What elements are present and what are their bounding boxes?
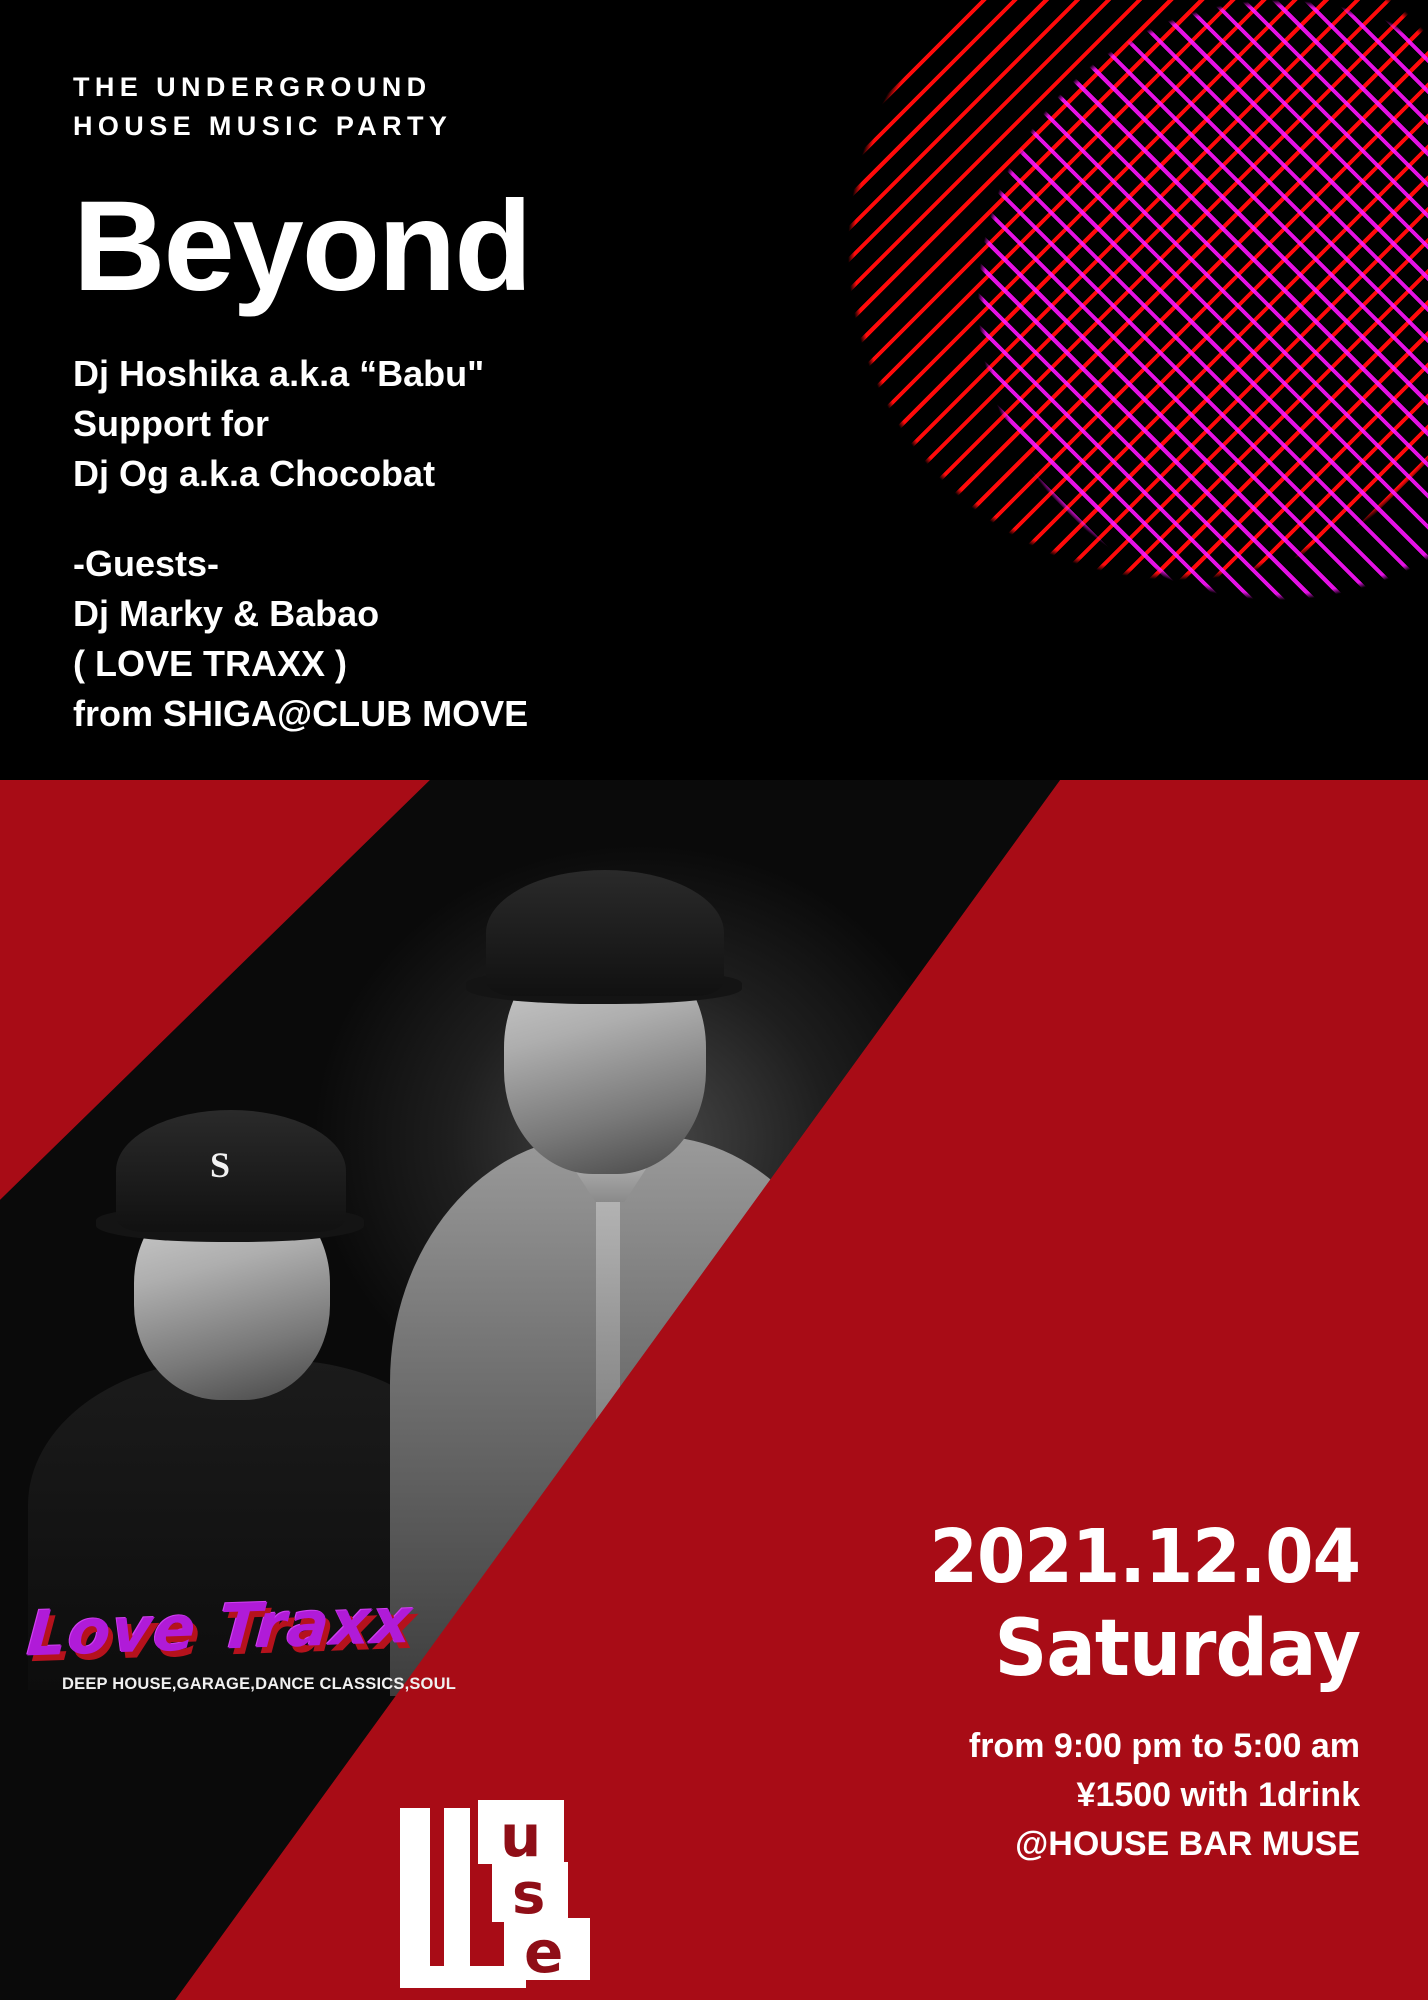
muse-venue-logo: u s e	[400, 1800, 605, 1990]
lineup-guest-djs: -Guests- Dj Marky & Babao ( LOVE TRAXX )…	[73, 539, 893, 739]
dj-figure-right	[400, 870, 840, 1690]
love-traxx-logo: Love Traxx DEEP HOUSE,GARAGE,DANCE CLASS…	[28, 1590, 448, 1694]
figure-right-body	[390, 1136, 860, 1696]
figure-right-cap	[486, 870, 724, 996]
lineup-resident-djs: Dj Hoshika a.k.a “Babu" Support for Dj O…	[73, 349, 893, 499]
kicker-text: THE UNDERGROUND HOUSE MUSIC PARTY	[73, 68, 893, 147]
event-day-of-week: Saturday	[929, 1610, 1360, 1688]
muse-letter-e: e	[524, 1918, 563, 1986]
event-date: 2021.12.04	[929, 1520, 1360, 1594]
muse-letter-u: u	[500, 1802, 541, 1870]
page-title: Beyond	[73, 183, 893, 311]
figure-left-cap	[116, 1110, 346, 1232]
figure-right-shirt-placket	[596, 1170, 620, 1650]
love-traxx-genres: DEEP HOUSE,GARAGE,DANCE CLASSICS,SOUL	[62, 1675, 448, 1694]
header-text-zone: THE UNDERGROUND HOUSE MUSIC PARTY Beyond…	[73, 0, 893, 739]
muse-m-stem-left	[400, 1808, 430, 1966]
cap-letter-s: S	[210, 1144, 230, 1186]
event-info-block: 2021.12.04 Saturday from 9:00 pm to 5:00…	[902, 1520, 1360, 1869]
muse-m-stem-right	[444, 1808, 470, 1966]
love-traxx-wordmark: Love Traxx	[25, 1583, 451, 1671]
event-flyer: S THE UNDERGROUND HOUSE MUSIC PARTY Beyo…	[0, 0, 1428, 2000]
event-details: from 9:00 pm to 5:00 am ¥1500 with 1drin…	[902, 1722, 1360, 1869]
